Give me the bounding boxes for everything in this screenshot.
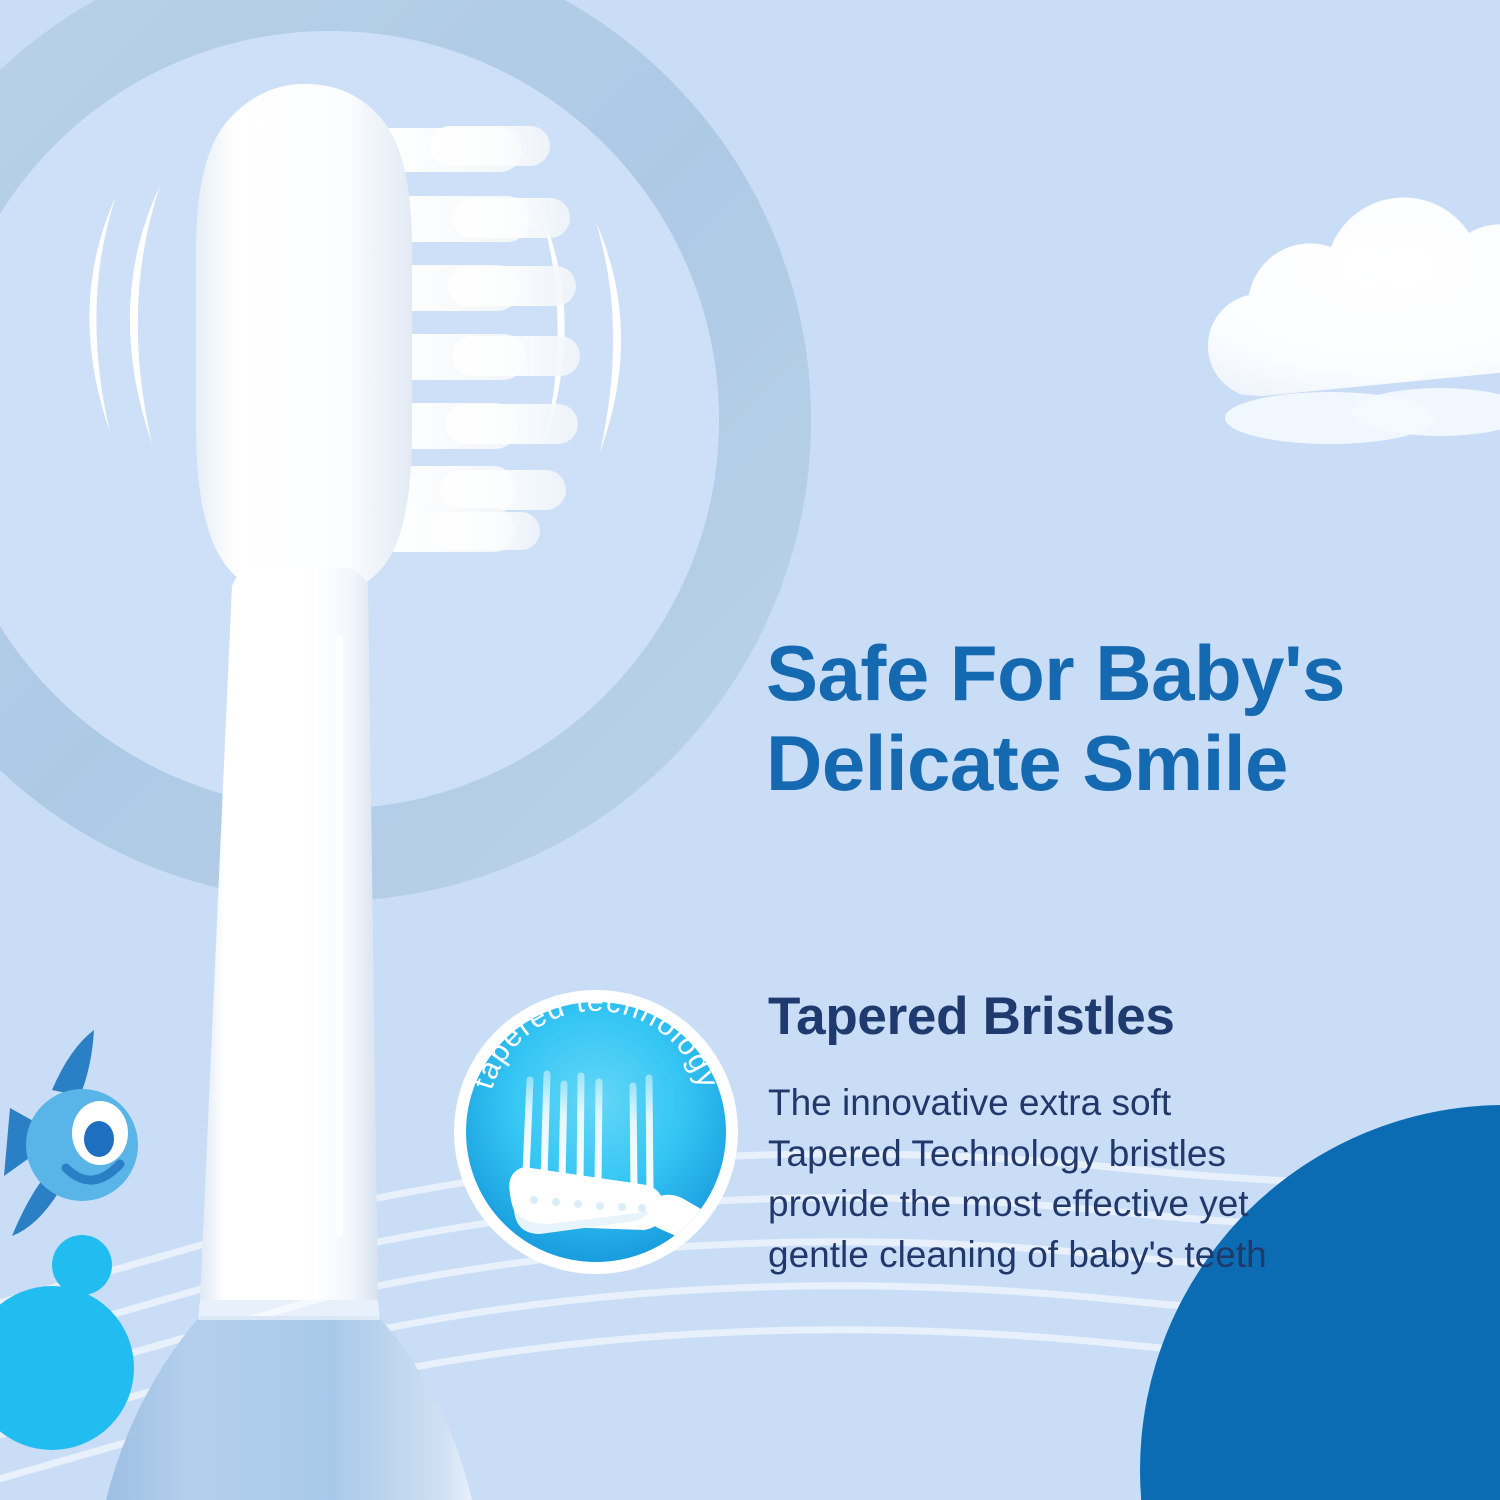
page-title: Safe For Baby's Delicate Smile (766, 628, 1466, 809)
headline-line-1: Safe For Baby's (766, 628, 1466, 718)
product-feature-banner: Safe For Baby's Delicate Smile Tapered B… (0, 0, 1500, 1500)
brush-neck (200, 568, 378, 1300)
neck-highlight (336, 636, 343, 1236)
brush-head-body (196, 84, 412, 602)
tapered-technology-badge: tapered technology (452, 988, 740, 1276)
body-line-2: Tapered Technology bristles (768, 1129, 1368, 1180)
feature-description: The innovative extra soft Tapered Techno… (768, 1078, 1368, 1281)
feature-title: Tapered Bristles (768, 986, 1175, 1047)
body-line-1: The innovative extra soft (768, 1078, 1368, 1129)
body-line-4: gentle cleaning of baby's teeth (768, 1230, 1368, 1281)
headline-line-2: Delicate Smile (766, 718, 1466, 808)
grip-seam (198, 1300, 380, 1320)
brush-grip (106, 1316, 472, 1500)
body-line-3: provide the most effective yet (768, 1179, 1368, 1230)
